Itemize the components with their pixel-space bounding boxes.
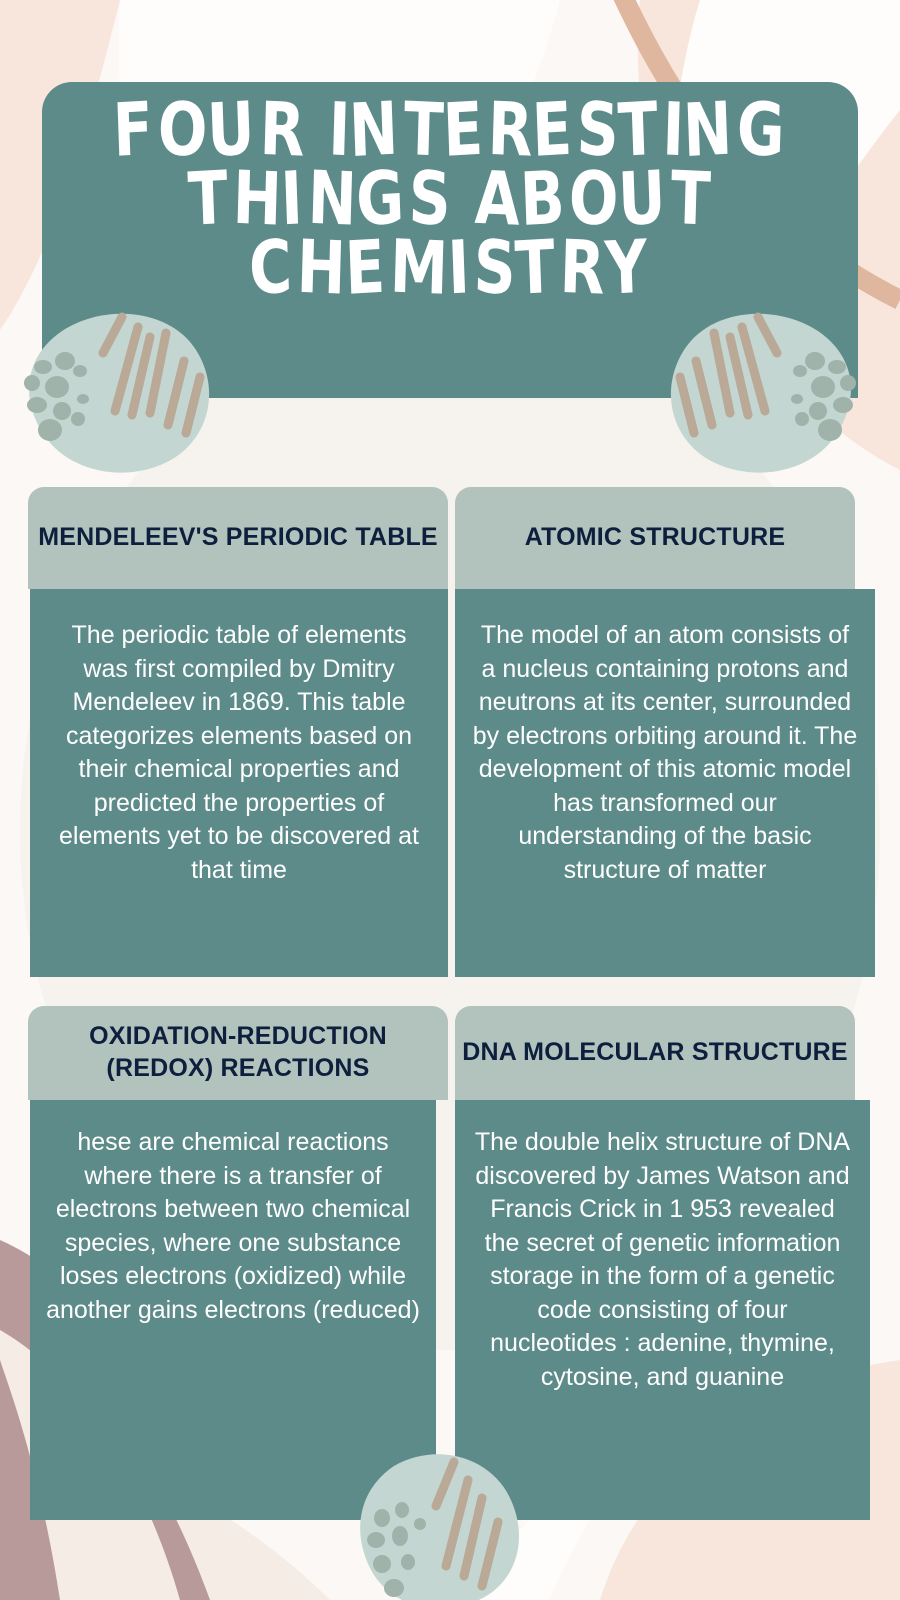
- info-card-mendeleevs-periodic-table[interactable]: MENDELEEV'S PERIODIC TABLE The periodic …: [28, 487, 448, 977]
- info-card-atomic-structure[interactable]: ATOMIC STRUCTURE The model of an atom co…: [455, 487, 875, 977]
- poster-title: FOUR INTERESTING THINGS ABOUT CHEMISTRY: [114, 104, 785, 311]
- card-body-text: The model of an atom consists of a nucle…: [455, 589, 875, 977]
- sage-blob-left: [10, 295, 240, 475]
- sage-blob-bottom: [350, 1440, 550, 1600]
- card-title: DNA MOLECULAR STRUCTURE: [455, 1006, 855, 1100]
- card-title: OXIDATION-REDUCTION (REDOX) REACTIONS: [28, 1006, 448, 1100]
- card-title: MENDELEEV'S PERIODIC TABLE: [28, 487, 448, 589]
- card-title: ATOMIC STRUCTURE: [455, 487, 855, 589]
- card-body-text: The periodic table of elements was first…: [30, 589, 448, 977]
- infographic-poster: FOUR INTERESTING THINGS ABOUT CHEMISTRY: [0, 0, 900, 1600]
- sage-blob-right: [640, 295, 870, 475]
